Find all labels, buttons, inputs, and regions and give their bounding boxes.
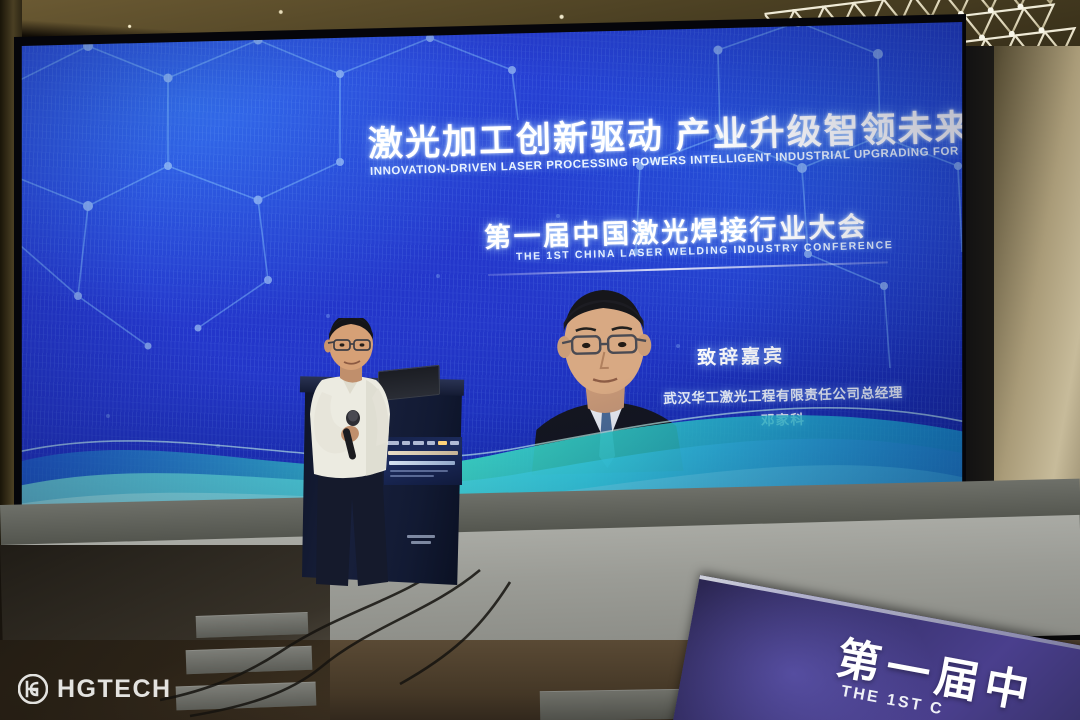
hgtech-logo-icon — [18, 674, 48, 704]
sponsor-logo-3 — [413, 441, 424, 445]
hgtech-watermark: HGTECH — [18, 674, 172, 704]
presenter-at-podium — [296, 318, 406, 588]
sponsor-logo-4 — [427, 441, 435, 445]
led-vignette — [18, 16, 966, 516]
podium-bottom-logo-line-1 — [407, 535, 435, 538]
hgtech-watermark-text: HGTECH — [57, 675, 172, 704]
sponsor-logo-5 — [438, 441, 448, 445]
floor-cables — [150, 560, 670, 720]
podium-bottom-logo-line-2 — [411, 541, 431, 544]
conference-photo-scene: 激光加工创新驱动 产业升级智领未来 INNOVATION-DRIVEN LASE… — [0, 0, 1080, 720]
sponsor-logo-6 — [450, 441, 459, 445]
led-screen: 激光加工创新驱动 产业升级智领未来 INNOVATION-DRIVEN LASE… — [18, 16, 966, 516]
